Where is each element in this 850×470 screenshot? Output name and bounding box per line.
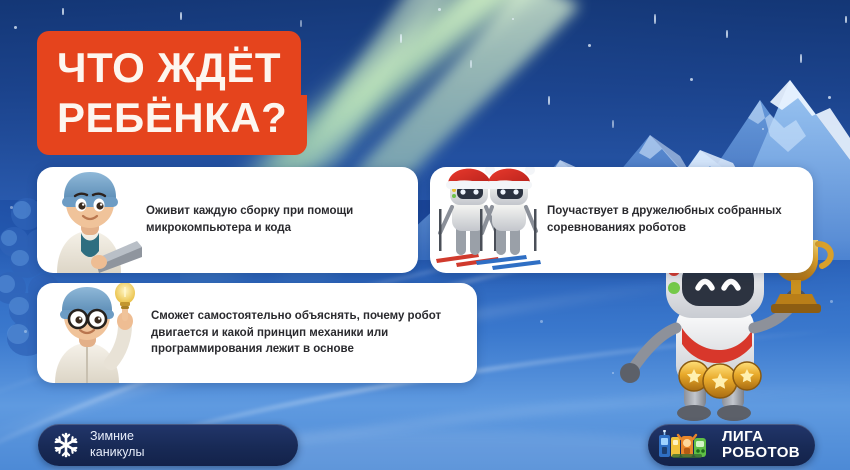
winter-holidays-label: Зимние каникулы [90, 429, 144, 460]
winter-holidays-badge[interactable]: Зимние каникулы [38, 424, 298, 466]
skiing-robots-illustration [430, 167, 545, 273]
poster-canvas: ЧТО ЖДЁТ РЕБЁНКА? [0, 0, 850, 470]
boy-with-lightbulb-illustration [37, 283, 147, 383]
feature-card-3[interactable]: Сможет самостоятельно объяснять, почему … [37, 283, 477, 383]
boy-with-laptop-illustration [37, 167, 142, 273]
title-line-1: ЧТО ЖДЁТ [37, 31, 301, 97]
feature-card-1-text: Оживит каждую сборку при помощи микроком… [142, 203, 404, 236]
liga-robotov-badge[interactable]: ЛИГА РОБОТОВ [648, 424, 815, 466]
feature-card-2-text: Поучаствует в дружелюбных собранных соре… [545, 203, 801, 236]
feature-card-3-text: Сможет самостоятельно объяснять, почему … [147, 308, 467, 358]
feature-card-2[interactable]: Поучаствует в дружелюбных собранных соре… [430, 167, 813, 273]
feature-card-1[interactable]: Оживит каждую сборку при помощи микроком… [37, 167, 418, 273]
title-line-2: РЕБЁНКА? [37, 95, 307, 155]
snowflake-icon [52, 431, 80, 459]
page-title: ЧТО ЖДЁТ РЕБЁНКА? [37, 31, 307, 155]
liga-logo [658, 430, 712, 460]
liga-robotov-label: ЛИГА РОБОТОВ [722, 429, 800, 462]
